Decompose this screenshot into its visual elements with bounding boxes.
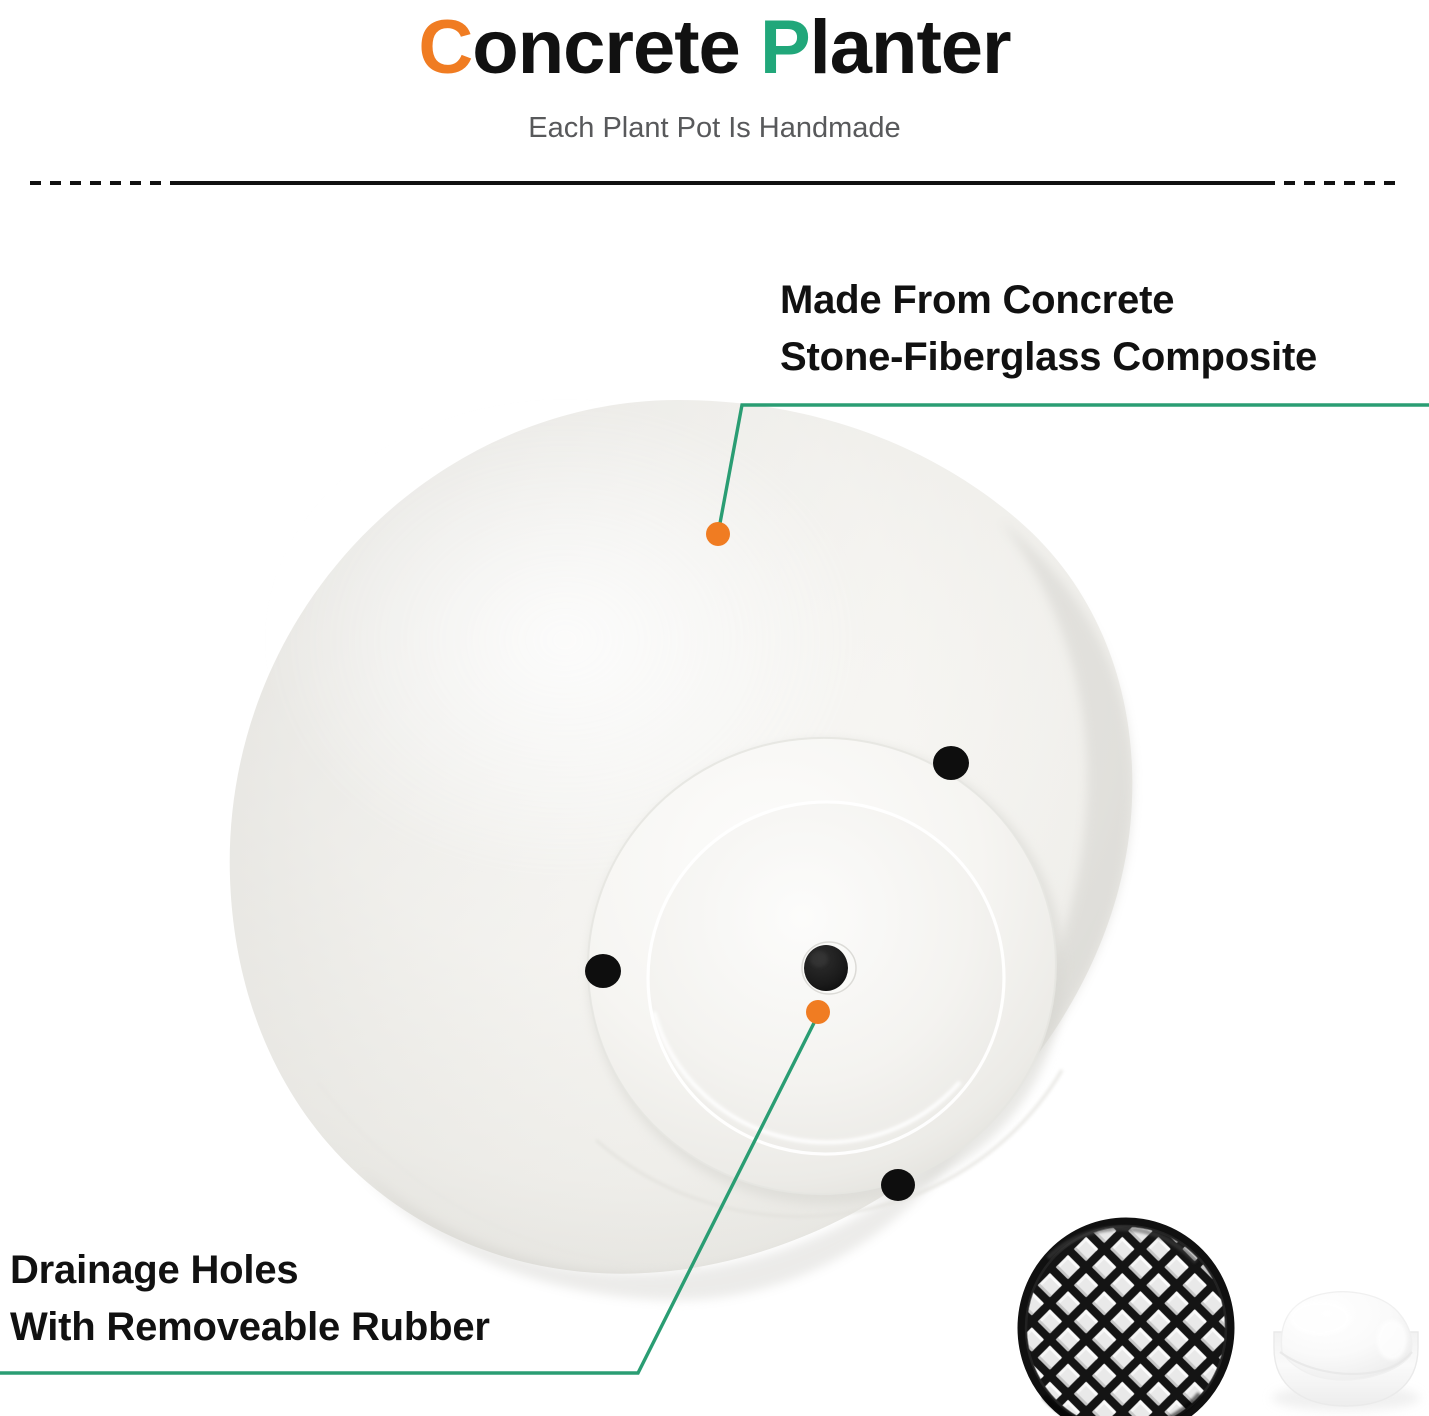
- callout-material-text: Made From Concrete Stone-Fiberglass Comp…: [780, 272, 1317, 386]
- planter-body: [230, 400, 1133, 1300]
- callout-drainage-line2: With Removeable Rubber: [10, 1299, 490, 1356]
- drainage-hole-bottom: [881, 1169, 915, 1201]
- mesh-lattice: [1018, 1218, 1234, 1416]
- callout-drainage-text: Drainage Holes With Removeable Rubber: [10, 1242, 490, 1356]
- rubber-plug-highlight: [1290, 1301, 1350, 1335]
- drainage-hole-center-plugged: [802, 942, 856, 994]
- drainage-mesh-disc: [1018, 1218, 1234, 1416]
- infographic-canvas: Concrete Planter Each Plant Pot Is Handm…: [0, 0, 1429, 1416]
- center-hole-plug-sheen: [810, 951, 828, 967]
- rubber-drainage-plug: [1272, 1292, 1420, 1411]
- center-hole-plug: [804, 945, 848, 991]
- mesh-lattice-pattern: [1018, 1218, 1234, 1416]
- callout-dot-material: [706, 522, 730, 546]
- callout-material-line2: Stone-Fiberglass Composite: [780, 329, 1317, 386]
- callout-dot-drainage: [806, 1000, 830, 1024]
- callout-drainage-line1: Drainage Holes: [10, 1248, 298, 1292]
- rubber-plug-specular: [1377, 1320, 1407, 1360]
- product-illustration: [0, 0, 1429, 1416]
- drainage-hole-left: [585, 954, 621, 988]
- callout-material-line1: Made From Concrete: [780, 278, 1174, 322]
- drainage-hole-upper-right: [933, 746, 969, 780]
